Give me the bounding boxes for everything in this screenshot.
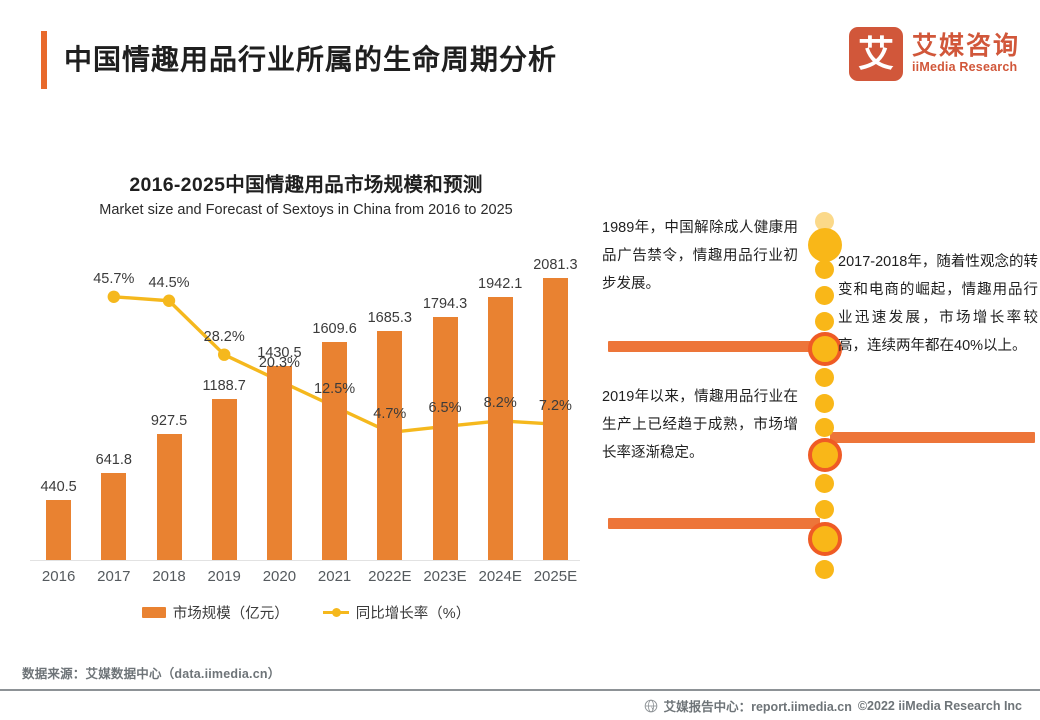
chart-x-axis-line: [30, 560, 580, 561]
growth-point-2019: [218, 348, 230, 360]
x-tick-2021: 2021: [305, 568, 365, 585]
bar-2022E: [377, 331, 402, 560]
bar-value-label-2019: 1188.7: [194, 378, 254, 394]
growth-value-label-2021: 12.5%: [302, 381, 368, 397]
growth-value-label-2020: 20.3%: [246, 355, 312, 371]
timeline-connector-left-lower: [608, 518, 820, 529]
timeline-connector-left-upper: [608, 341, 820, 352]
timeline-dot-11: [815, 474, 834, 493]
timeline-dot-4: [815, 286, 834, 305]
bar-value-label-2021: 1609.6: [305, 321, 365, 337]
page-header: 中国情趣用品行业所属的生命周期分析 艾 艾媒咨询 iiMedia Researc…: [0, 0, 1040, 112]
chart-title: 2016-2025中国情趣用品市场规模和预测: [26, 168, 586, 197]
title-accent-bar: [41, 31, 47, 89]
legend-label-market-size: 市场规模（亿元）: [173, 602, 289, 623]
bar-2020: [267, 366, 292, 560]
growth-value-label-2025E: 7.2%: [522, 398, 588, 414]
bar-2016: [46, 500, 71, 560]
legend-item-market-size[interactable]: 市场规模（亿元）: [142, 602, 289, 623]
timeline-dot-6: [808, 332, 842, 366]
chart-panel: 2016-2025中国情趣用品市场规模和预测 Market size and F…: [26, 150, 586, 650]
slide-page: 中国情趣用品行业所属的生命周期分析 艾 艾媒咨询 iiMedia Researc…: [0, 0, 1040, 720]
data-source-note: 数据来源：艾媒数据中心（data.iimedia.cn）: [22, 663, 280, 682]
x-tick-2023E: 2023E: [415, 568, 475, 585]
bar-2021: [322, 342, 347, 560]
timeline-dot-10: [808, 438, 842, 472]
legend-item-growth-rate[interactable]: 同比增长率（%）: [323, 602, 470, 623]
legend-bar-swatch-icon: [142, 607, 166, 618]
x-tick-2018: 2018: [139, 568, 199, 585]
x-tick-2017: 2017: [84, 568, 144, 585]
timeline-dot-7: [815, 368, 834, 387]
bar-2019: [212, 399, 237, 560]
bar-2023E: [433, 317, 458, 560]
bar-2017: [101, 473, 126, 560]
legend-line-swatch-icon: [323, 607, 349, 618]
footer-copyright: ©2022 iiMedia Research Inc: [858, 699, 1022, 713]
bar-2018: [157, 434, 182, 560]
timeline-dot-2: [808, 228, 842, 262]
x-tick-2016: 2016: [29, 568, 89, 585]
timeline-connector-right-middle: [830, 432, 1035, 443]
chart-legend: 市场规模（亿元） 同比增长率（%）: [26, 602, 586, 623]
timeline-note-1989: 1989年，中国解除成人健康用品广告禁令，情趣用品行业初步发展。: [602, 214, 798, 298]
bar-value-label-2023E: 1794.3: [415, 296, 475, 312]
growth-value-label-2019: 28.2%: [191, 329, 257, 345]
timeline-dot-9: [815, 418, 834, 437]
timeline-note-2017-2018: 2017-2018年，随着性观念的转变和电商的崛起，情趣用品行业迅速发展，市场增…: [838, 248, 1038, 360]
brand-logo: 艾 艾媒咨询 iiMedia Research: [849, 27, 1020, 81]
growth-point-2017: [108, 291, 120, 303]
x-tick-2024E: 2024E: [470, 568, 530, 585]
timeline-dot-3: [815, 260, 834, 279]
logo-name-cn: 艾媒咨询: [912, 33, 1020, 61]
x-tick-2020: 2020: [249, 568, 309, 585]
bar-value-label-2024E: 1942.1: [470, 276, 530, 292]
lifecycle-timeline: 1989年，中国解除成人健康用品广告禁令，情趣用品行业初步发展。 2017-20…: [590, 150, 1040, 650]
bar-value-label-2017: 641.8: [84, 452, 144, 468]
bar-value-label-2018: 927.5: [139, 413, 199, 429]
logo-text: 艾媒咨询 iiMedia Research: [912, 33, 1020, 76]
page-footer: 艾媒报告中心：report.iimedia.cn ©2022 iiMedia R…: [0, 691, 1040, 720]
bar-2024E: [488, 297, 513, 560]
footer-report-center[interactable]: 艾媒报告中心：report.iimedia.cn: [664, 696, 852, 715]
x-tick-2019: 2019: [194, 568, 254, 585]
legend-label-growth-rate: 同比增长率（%）: [356, 602, 470, 623]
growth-value-label-2018: 44.5%: [136, 275, 202, 291]
growth-point-2018: [163, 295, 175, 307]
logo-name-en: iiMedia Research: [912, 60, 1020, 75]
globe-icon: [644, 699, 658, 713]
bar-value-label-2025E: 2081.3: [525, 257, 585, 273]
chart-plot-area: 440.5641.8927.51188.71430.51609.61685.31…: [30, 248, 582, 560]
page-title: 中国情趣用品行业所属的生命周期分析: [64, 38, 557, 78]
timeline-dot-13: [808, 522, 842, 556]
timeline-dot-5: [815, 312, 834, 331]
x-tick-2022E: 2022E: [360, 568, 420, 585]
x-tick-2025E: 2025E: [525, 568, 585, 585]
chart-x-axis-labels: 2016201720182019202020212022E2023E2024E2…: [30, 568, 582, 592]
bar-value-label-2022E: 1685.3: [360, 310, 420, 326]
bar-2025E: [543, 278, 568, 560]
timeline-dot-12: [815, 500, 834, 519]
timeline-note-2019: 2019年以来，情趣用品行业在生产上已经趋于成熟，市场增长率逐渐稳定。: [602, 383, 798, 467]
chart-subtitle: Market size and Forecast of Sextoys in C…: [26, 202, 586, 218]
timeline-dot-14: [815, 560, 834, 579]
bar-value-label-2016: 440.5: [29, 479, 89, 495]
timeline-dot-8: [815, 394, 834, 413]
logo-mark-icon: 艾: [849, 27, 903, 81]
